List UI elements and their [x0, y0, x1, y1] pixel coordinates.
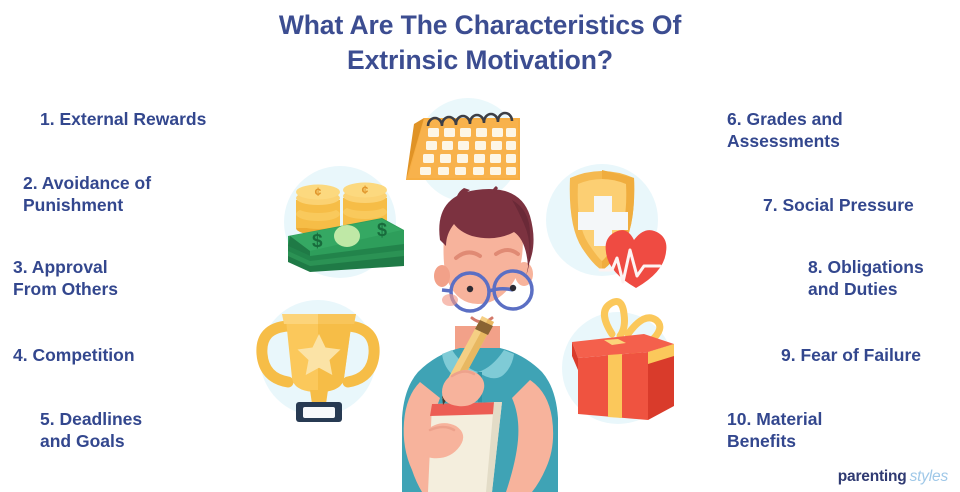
gift-icon: [572, 302, 674, 420]
page-title-line-2: Extrinsic Motivation?: [0, 43, 960, 78]
list-item-8: 8. Obligations and Duties: [808, 256, 924, 301]
brand-logo[interactable]: parentingstyles: [838, 469, 948, 485]
page-title-line-1: What Are The Characteristics Of: [0, 8, 960, 43]
icon-halos: [260, 98, 674, 424]
svg-text:¢: ¢: [362, 183, 369, 197]
list-item-2: 2. Avoidance of Punishment: [23, 172, 151, 217]
list-item-3: 3. Approval From Others: [13, 256, 118, 301]
list-item-1: 1. External Rewards: [40, 108, 206, 130]
coin-stack-left: ¢: [296, 185, 340, 236]
infographic-canvas: What Are The Characteristics Of Extrinsi…: [0, 0, 960, 492]
list-item-9: 9. Fear of Failure: [781, 344, 921, 366]
svg-text:$: $: [377, 220, 387, 240]
brand-logo-word-styles: styles: [910, 468, 948, 485]
coin-stack-right: ¢: [343, 183, 387, 234]
svg-text:¢: ¢: [315, 185, 322, 199]
brand-logo-word-parenting: parenting: [838, 468, 907, 485]
list-item-5: 5. Deadlines and Goals: [40, 408, 142, 453]
trophy-icon: [262, 314, 374, 422]
money-icon: ¢ ¢: [288, 183, 404, 273]
list-item-10: 10. Material Benefits: [727, 408, 822, 453]
list-item-6: 6. Grades and Assessments: [727, 108, 843, 153]
page-title: What Are The Characteristics Of Extrinsi…: [0, 8, 960, 78]
calendar-icon: [406, 113, 520, 180]
cash-stack: $ $: [288, 218, 404, 272]
list-item-7: 7. Social Pressure: [763, 194, 914, 216]
list-item-4: 4. Competition: [13, 344, 135, 366]
svg-text:$: $: [312, 231, 323, 252]
shield-health-icon: [570, 170, 667, 288]
boy-character: [402, 186, 558, 492]
